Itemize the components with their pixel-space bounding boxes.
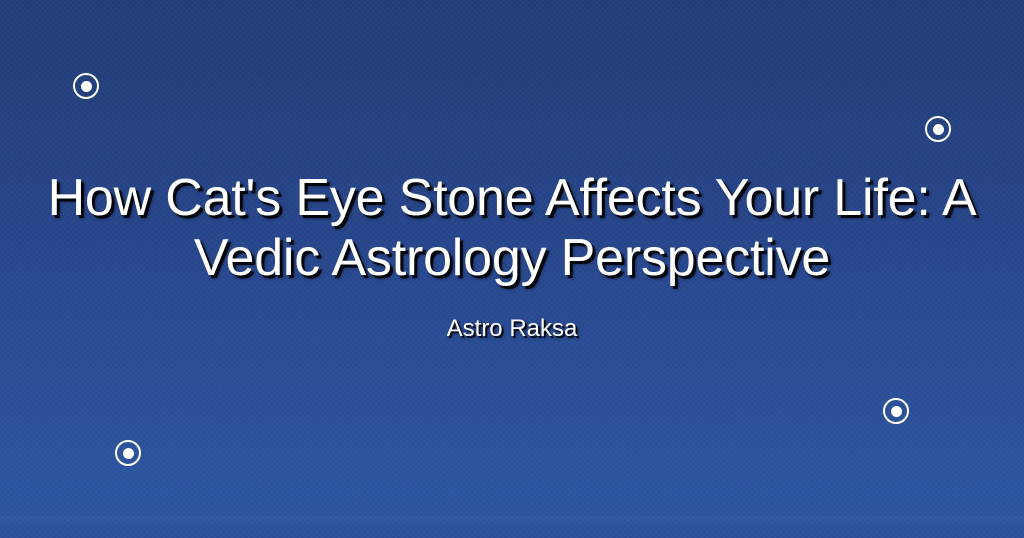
ring-dot-icon bbox=[115, 440, 141, 466]
ring-dot-center bbox=[81, 81, 92, 92]
ring-dot-icon bbox=[73, 73, 99, 99]
title-slide: How Cat's Eye Stone Affects Your Life: A… bbox=[0, 0, 1024, 538]
slide-text-block: How Cat's Eye Stone Affects Your Life: A… bbox=[0, 168, 1024, 344]
ring-dot-icon bbox=[925, 116, 951, 142]
background-lower-band bbox=[0, 516, 1024, 528]
slide-subtitle: Astro Raksa bbox=[0, 314, 1024, 344]
ring-dot-center bbox=[933, 124, 944, 135]
ring-dot-icon bbox=[883, 398, 909, 424]
slide-title: How Cat's Eye Stone Affects Your Life: A… bbox=[0, 168, 1024, 288]
ring-dot-center bbox=[123, 448, 134, 459]
ring-dot-center bbox=[891, 406, 902, 417]
